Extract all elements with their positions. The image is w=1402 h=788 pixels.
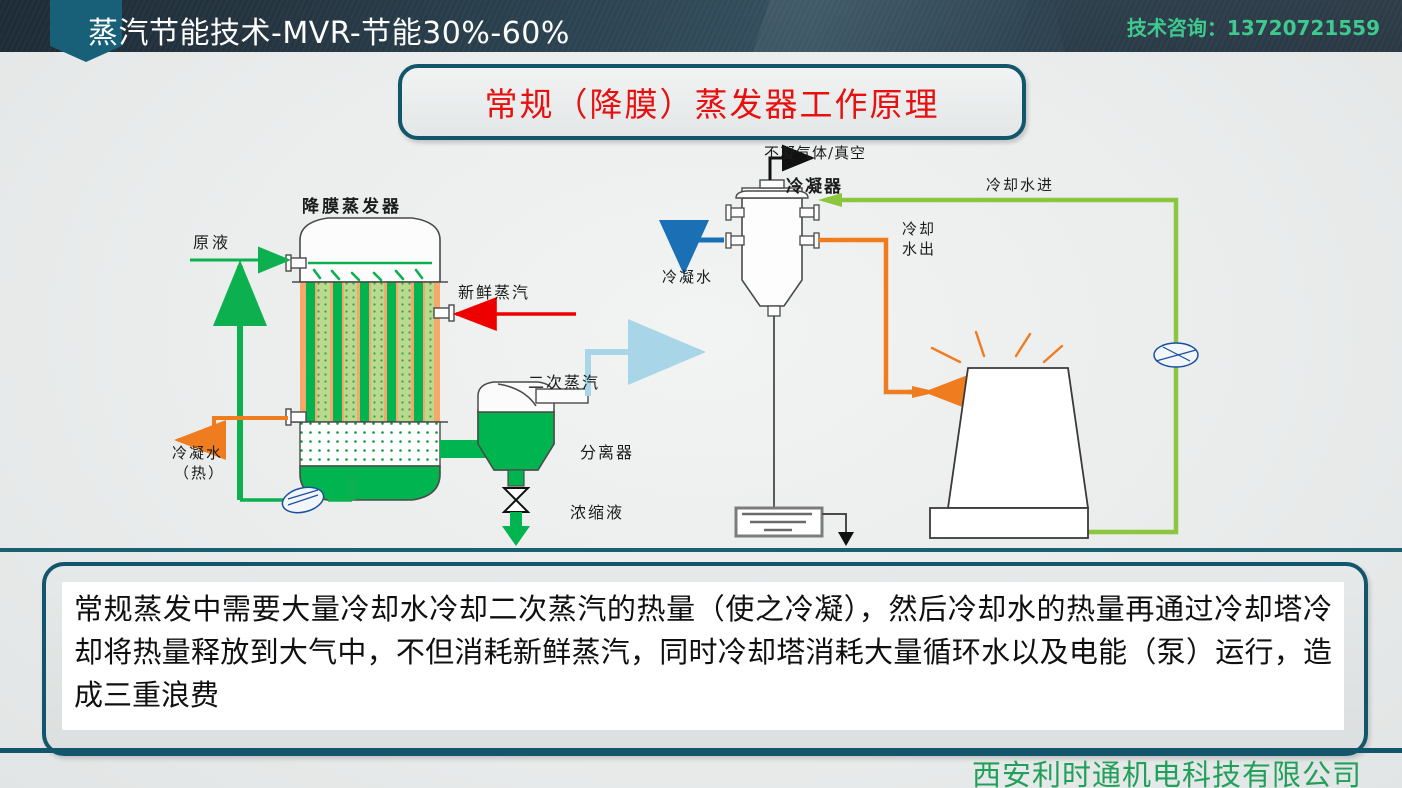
slide: 蒸汽节能技术-MVR-节能30%-60% 技术咨询：13720721559 常规… <box>0 0 1402 788</box>
label-condensate: 冷凝水 <box>662 268 713 286</box>
seal-tank <box>736 316 854 546</box>
label-feed: 原液 <box>193 233 231 252</box>
falling-film-evaporator <box>286 218 454 500</box>
header-facet-left <box>747 0 1033 52</box>
label-cooling-water-out-line1: 冷却 <box>902 220 936 238</box>
slide-footer: 西安利时通机电科技有限公司 <box>0 748 1402 788</box>
slide-title-pill: 常规（降膜）蒸发器工作原理 <box>398 64 1026 140</box>
label-condenser: 冷凝器 <box>786 176 843 197</box>
cooling-tower <box>930 332 1088 538</box>
label-cooling-water-in: 冷却水进 <box>986 176 1054 194</box>
label-separator: 分离器 <box>580 443 634 462</box>
footer-company-name: 西安利时通机电科技有限公司 <box>972 752 1362 788</box>
section-divider <box>0 548 1402 552</box>
header-title: 蒸汽节能技术-MVR-节能30%-60% <box>88 8 570 52</box>
label-fresh-steam: 新鲜蒸汽 <box>458 283 530 302</box>
spray-rays-icon <box>932 332 1062 362</box>
label-non-condensable: 不凝气体/真空 <box>764 144 866 162</box>
header-contact-phone: 技术咨询：13720721559 <box>1127 12 1380 41</box>
secondary-vapor-line <box>588 352 700 396</box>
note-text: 常规蒸发中需要大量冷却水冷却二次蒸汽的热量（使之冷凝），然后冷却水的热量再通过冷… <box>74 588 1332 717</box>
note-inner: 常规蒸发中需要大量冷却水冷却二次蒸汽的热量（使之冷凝），然后冷却水的热量再通过冷… <box>62 582 1344 730</box>
process-flow-diagram: 降膜蒸发器 原液 新鲜蒸汽 冷凝水 （热） 二次蒸汽 分离器 浓缩液 不凝气体/… <box>0 140 1402 550</box>
label-evaporator: 降膜蒸发器 <box>302 196 402 217</box>
label-hot-condensate-line2: （热） <box>174 464 225 482</box>
condensate-line-blue <box>684 240 724 270</box>
slide-title-text: 常规（降膜）蒸发器工作原理 <box>485 78 940 126</box>
label-cooling-water-out-line2: 水出 <box>902 240 936 258</box>
label-concentrate: 浓缩液 <box>570 503 624 522</box>
cooling-water-out-line-orange <box>818 240 938 398</box>
label-hot-condensate-line1: 冷凝水 <box>172 444 223 462</box>
hot-condensate-line-orange <box>178 418 288 440</box>
label-secondary-vapor: 二次蒸汽 <box>528 373 600 392</box>
note-box: 常规蒸发中需要大量冷却水冷却二次蒸汽的热量（使之冷凝），然后冷却水的热量再通过冷… <box>42 562 1368 756</box>
